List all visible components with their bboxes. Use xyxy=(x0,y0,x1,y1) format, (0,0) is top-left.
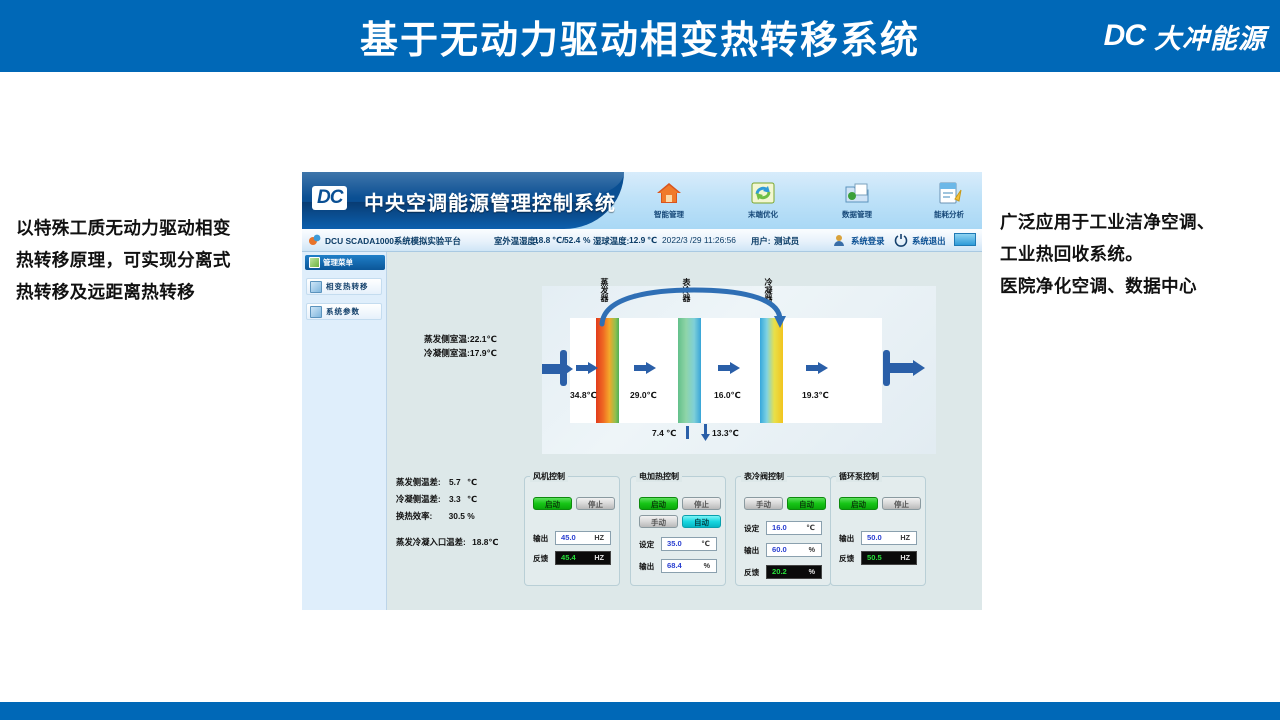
heater-start-button[interactable]: 启动 xyxy=(639,497,678,510)
caption-right-line-2: 工业热回收系统。 xyxy=(1000,238,1278,270)
brand-logo: DC 大冲能源 xyxy=(1104,14,1266,58)
flow-arrow-1 xyxy=(576,362,598,374)
control-group-title: 电加热控制 xyxy=(636,471,682,482)
page-title: 基于无动力驱动相变热转移系统 xyxy=(0,0,1280,72)
module-icon xyxy=(310,306,322,318)
platform-name: DCU SCADA1000系统模拟实验平台 xyxy=(325,235,461,247)
wetbulb-value: 12.9 xyxy=(629,235,645,245)
refrigerant-temp-2: 13.3℃ xyxy=(712,428,739,439)
refrigerant-loop-arc xyxy=(594,280,794,324)
process-diagram: 蒸发侧室温:22.1℃ 冷凝侧室温:17.9℃ 蒸发器 表冷器 冷凝器 xyxy=(424,286,936,454)
stat-label: 蒸发侧温差: xyxy=(396,477,441,487)
caption-left: 以特殊工质无动力驱动相变 热转移原理，可实现分离式 热转移及远距离热转移 xyxy=(16,212,292,308)
nav-label: 智能管理 xyxy=(632,209,706,220)
heater-setpoint-field[interactable]: 35.0 ℃ xyxy=(661,537,717,551)
valve-feedback-field: 20.2 % xyxy=(766,565,822,579)
scada-sidebar: 管理菜单 相变热转移 系统参数 xyxy=(302,252,387,610)
scada-screenshot: DC 中央空调能源管理控制系统 智能管理 xyxy=(302,172,982,610)
nav-item-energy-analysis[interactable]: 能耗分析 xyxy=(912,178,982,220)
brand-name: 大冲能源 xyxy=(1154,17,1266,56)
user-label: 用户: xyxy=(751,235,771,247)
outdoor-temp-value: 18.8 xyxy=(534,235,550,245)
user-value: 测试员 xyxy=(774,235,799,247)
field-unit: HZ xyxy=(900,533,910,542)
stat-row: 换热效率: 30.5 % xyxy=(396,508,526,525)
menu-icon xyxy=(309,257,320,268)
nav-label: 数据管理 xyxy=(820,209,894,220)
valve-auto-button[interactable]: 自动 xyxy=(787,497,826,510)
heater-auto-button[interactable]: 自动 xyxy=(682,515,721,528)
stat-label: 冷凝侧温差: xyxy=(396,494,441,504)
heater-stop-button[interactable]: 停止 xyxy=(682,497,721,510)
stat-unit: ℃ xyxy=(467,477,477,487)
field-label: 输出 xyxy=(839,533,854,544)
sidebar-item-system-parameters[interactable]: 系统参数 xyxy=(306,303,382,320)
report-icon xyxy=(912,178,982,208)
scada-body: 管理菜单 相变热转移 系统参数 蒸发侧室温:22.1℃ 冷凝侧室温:17.9℃ xyxy=(302,252,982,610)
air-temp-3: 16.0℃ xyxy=(714,390,741,401)
flow-arrow-4 xyxy=(806,362,828,374)
caption-left-line-2: 热转移原理，可实现分离式 xyxy=(16,244,292,276)
sidebar-item-phase-change-heat-transfer[interactable]: 相变热转移 xyxy=(306,278,382,295)
air-temp-2: 29.0℃ xyxy=(630,390,657,401)
control-group-title: 表冷阀控制 xyxy=(741,471,787,482)
valve-manual-button[interactable]: 手动 xyxy=(744,497,783,510)
fan-stop-button[interactable]: 停止 xyxy=(576,497,615,510)
stat-label: 换热效率: xyxy=(396,511,432,521)
field-value: 60.0 xyxy=(772,545,787,554)
air-temp-4: 19.3℃ xyxy=(802,390,829,401)
nav-label: 能耗分析 xyxy=(912,209,982,220)
field-label: 反馈 xyxy=(744,567,759,578)
field-unit: % xyxy=(704,561,710,570)
scada-nav: 智能管理 末端优化 xyxy=(624,174,982,229)
field-value: 68.4 xyxy=(667,561,682,570)
fan-output-field[interactable]: 45.0 HZ xyxy=(555,531,611,545)
brand-mark: DC xyxy=(1104,19,1145,53)
fan-feedback-field: 45.4 HZ xyxy=(555,551,611,565)
evaporator-room-temp: 蒸发侧室温:22.1℃ xyxy=(424,332,542,346)
nav-item-terminal-optimization[interactable]: 末端优化 xyxy=(726,178,800,220)
nav-label: 末端优化 xyxy=(726,209,800,220)
caption-left-line-3: 热转移及远距离热转移 xyxy=(16,276,292,308)
performance-stats: 蒸发侧温差: 5.7 ℃ 冷凝侧温差: 3.3 ℃ 换热效率: 30.5 % 蒸… xyxy=(396,474,526,551)
air-outlet-arrow xyxy=(890,360,926,381)
air-temp-1: 34.8℃ xyxy=(570,390,597,401)
stat-value: 18.8℃ xyxy=(472,537,498,547)
heater-setpoint-row: 设定 35.0 ℃ xyxy=(639,537,719,551)
system-login-link[interactable]: 系统登录 xyxy=(851,235,885,247)
refrigerant-line-1 xyxy=(686,426,689,439)
sidebar-header-label: 管理菜单 xyxy=(323,257,353,268)
wetbulb-unit: ℃ xyxy=(647,235,657,245)
valve-output-field[interactable]: 60.0 % xyxy=(766,543,822,557)
pump-stop-button[interactable]: 停止 xyxy=(882,497,921,510)
wetbulb-label: 湿球温度: xyxy=(593,235,629,247)
field-unit: HZ xyxy=(594,533,604,542)
status-indicator xyxy=(954,233,976,246)
nav-item-intelligent-management[interactable]: 智能管理 xyxy=(632,178,706,220)
flow-arrow-3 xyxy=(718,362,740,374)
valve-setpoint-field[interactable]: 16.0 ℃ xyxy=(766,521,822,535)
air-inlet-arrow xyxy=(542,362,574,381)
field-label: 设定 xyxy=(639,539,654,550)
control-group-fan: 风机控制 启动 停止 输出 45.0 HZ 反馈 45.4 HZ xyxy=(524,476,620,586)
condenser-coil xyxy=(760,318,783,423)
heater-manual-button[interactable]: 手动 xyxy=(639,515,678,528)
scada-status-bar: DCU SCADA1000系统模拟实验平台 室外温湿度: 18.8 ℃/ 52.… xyxy=(302,229,982,252)
flow-arrow-2 xyxy=(634,362,656,374)
control-group-title: 循环泵控制 xyxy=(836,471,882,482)
pump-output-field[interactable]: 50.0 HZ xyxy=(861,531,917,545)
stat-row: 蒸发冷凝入口温差: 18.8℃ xyxy=(396,534,526,551)
scada-masthead: DC 中央空调能源管理控制系统 智能管理 xyxy=(302,172,982,229)
folder-icon xyxy=(820,178,894,208)
caption-left-line-1: 以特殊工质无动力驱动相变 xyxy=(16,212,292,244)
outlet-damper xyxy=(883,350,890,386)
sidebar-header: 管理菜单 xyxy=(305,255,385,270)
slide-header: 基于无动力驱动相变热转移系统 DC 大冲能源 xyxy=(0,0,1280,72)
valve-setpoint-row: 设定 16.0 ℃ xyxy=(744,521,824,535)
outdoor-humidity-unit: % xyxy=(583,235,590,245)
field-value: 45.0 xyxy=(561,533,576,542)
power-icon xyxy=(894,233,908,247)
field-unit: % xyxy=(809,567,815,576)
sidebar-item-label: 相变热转移 xyxy=(326,281,369,292)
field-label: 输出 xyxy=(639,561,654,572)
cooling-coil xyxy=(678,318,701,423)
sidebar-item-label: 系统参数 xyxy=(326,306,360,317)
field-value: 35.0 xyxy=(667,539,682,548)
field-unit: HZ xyxy=(594,553,604,562)
stat-value: 30.5 % xyxy=(449,511,475,521)
field-unit: HZ xyxy=(900,553,910,562)
pump-feedback-row: 反馈 50.5 HZ xyxy=(839,551,919,565)
evaporator-coil xyxy=(596,318,619,423)
scada-logo: DC xyxy=(312,186,347,210)
refresh-icon xyxy=(726,178,800,208)
field-label: 反馈 xyxy=(533,553,548,564)
system-logout-link[interactable]: 系统退出 xyxy=(912,235,946,247)
caption-right-line-1: 广泛应用于工业洁净空调、 xyxy=(1000,206,1278,238)
pump-start-button[interactable]: 启动 xyxy=(839,497,878,510)
stat-value: 3.3 xyxy=(449,494,461,504)
refrigerant-temp-1: 7.4 ℃ xyxy=(652,428,676,439)
stat-row: 冷凝侧温差: 3.3 ℃ xyxy=(396,491,526,508)
platform-icon xyxy=(308,233,322,247)
field-label: 输出 xyxy=(533,533,548,544)
field-label: 反馈 xyxy=(839,553,854,564)
heater-output-field[interactable]: 68.4 % xyxy=(661,559,717,573)
outdoor-label: 室外温湿度: xyxy=(494,235,539,247)
user-icon xyxy=(832,233,846,247)
datetime: 2022/3 /29 11:26:56 xyxy=(662,235,736,245)
refrigerant-down-arrow xyxy=(701,424,710,446)
field-unit: ℃ xyxy=(701,539,710,548)
scada-main-canvas: 蒸发侧室温:22.1℃ 冷凝侧室温:17.9℃ 蒸发器 表冷器 冷凝器 xyxy=(388,252,982,610)
caption-right: 广泛应用于工业洁净空调、 工业热回收系统。 医院净化空调、数据中心 xyxy=(1000,206,1278,302)
field-value: 50.0 xyxy=(867,533,882,542)
fan-start-button[interactable]: 启动 xyxy=(533,497,572,510)
nav-item-data-management[interactable]: 数据管理 xyxy=(820,178,894,220)
control-group-circulation-pump: 循环泵控制 启动 停止 输出 50.0 HZ 反馈 50.5 HZ xyxy=(830,476,926,586)
condenser-room-temp: 冷凝侧室温:17.9℃ xyxy=(424,346,542,360)
outdoor-humidity-value: 52.4 xyxy=(564,235,580,245)
valve-output-row: 输出 60.0 % xyxy=(744,543,824,557)
field-value: 16.0 xyxy=(772,523,787,532)
fan-feedback-row: 反馈 45.4 HZ xyxy=(533,551,613,565)
stat-label: 蒸发冷凝入口温差: xyxy=(396,537,466,547)
field-value: 20.2 xyxy=(772,567,787,576)
heater-output-row: 输出 68.4 % xyxy=(639,559,719,573)
field-label: 输出 xyxy=(744,545,759,556)
field-unit: ℃ xyxy=(806,523,815,532)
inlet-damper xyxy=(560,350,567,386)
stat-unit: ℃ xyxy=(467,494,477,504)
home-icon xyxy=(632,178,706,208)
field-unit: % xyxy=(809,545,815,554)
fan-output-row: 输出 45.0 HZ xyxy=(533,531,613,545)
control-group-title: 风机控制 xyxy=(530,471,568,482)
stat-row: 蒸发侧温差: 5.7 ℃ xyxy=(396,474,526,491)
module-icon xyxy=(310,281,322,293)
caption-right-line-3: 医院净化空调、数据中心 xyxy=(1000,270,1278,302)
outdoor-temp-unit: ℃/ xyxy=(552,235,564,245)
field-label: 设定 xyxy=(744,523,759,534)
field-value: 50.5 xyxy=(867,553,882,562)
stat-value: 5.7 xyxy=(449,477,461,487)
field-value: 45.4 xyxy=(561,553,576,562)
room-temperature-readouts: 蒸发侧室温:22.1℃ 冷凝侧室温:17.9℃ xyxy=(424,332,542,360)
slide-footer xyxy=(0,702,1280,720)
valve-feedback-row: 反馈 20.2 % xyxy=(744,565,824,579)
pump-feedback-field: 50.5 HZ xyxy=(861,551,917,565)
scada-app-title: 中央空调能源管理控制系统 xyxy=(364,187,616,216)
control-group-cooling-valve: 表冷阀控制 手动 自动 设定 16.0 ℃ 输出 60.0 % xyxy=(735,476,831,586)
pump-output-row: 输出 50.0 HZ xyxy=(839,531,919,545)
control-group-electric-heater: 电加热控制 启动 停止 手动 自动 设定 35.0 ℃ 输出 68.4 % xyxy=(630,476,726,586)
